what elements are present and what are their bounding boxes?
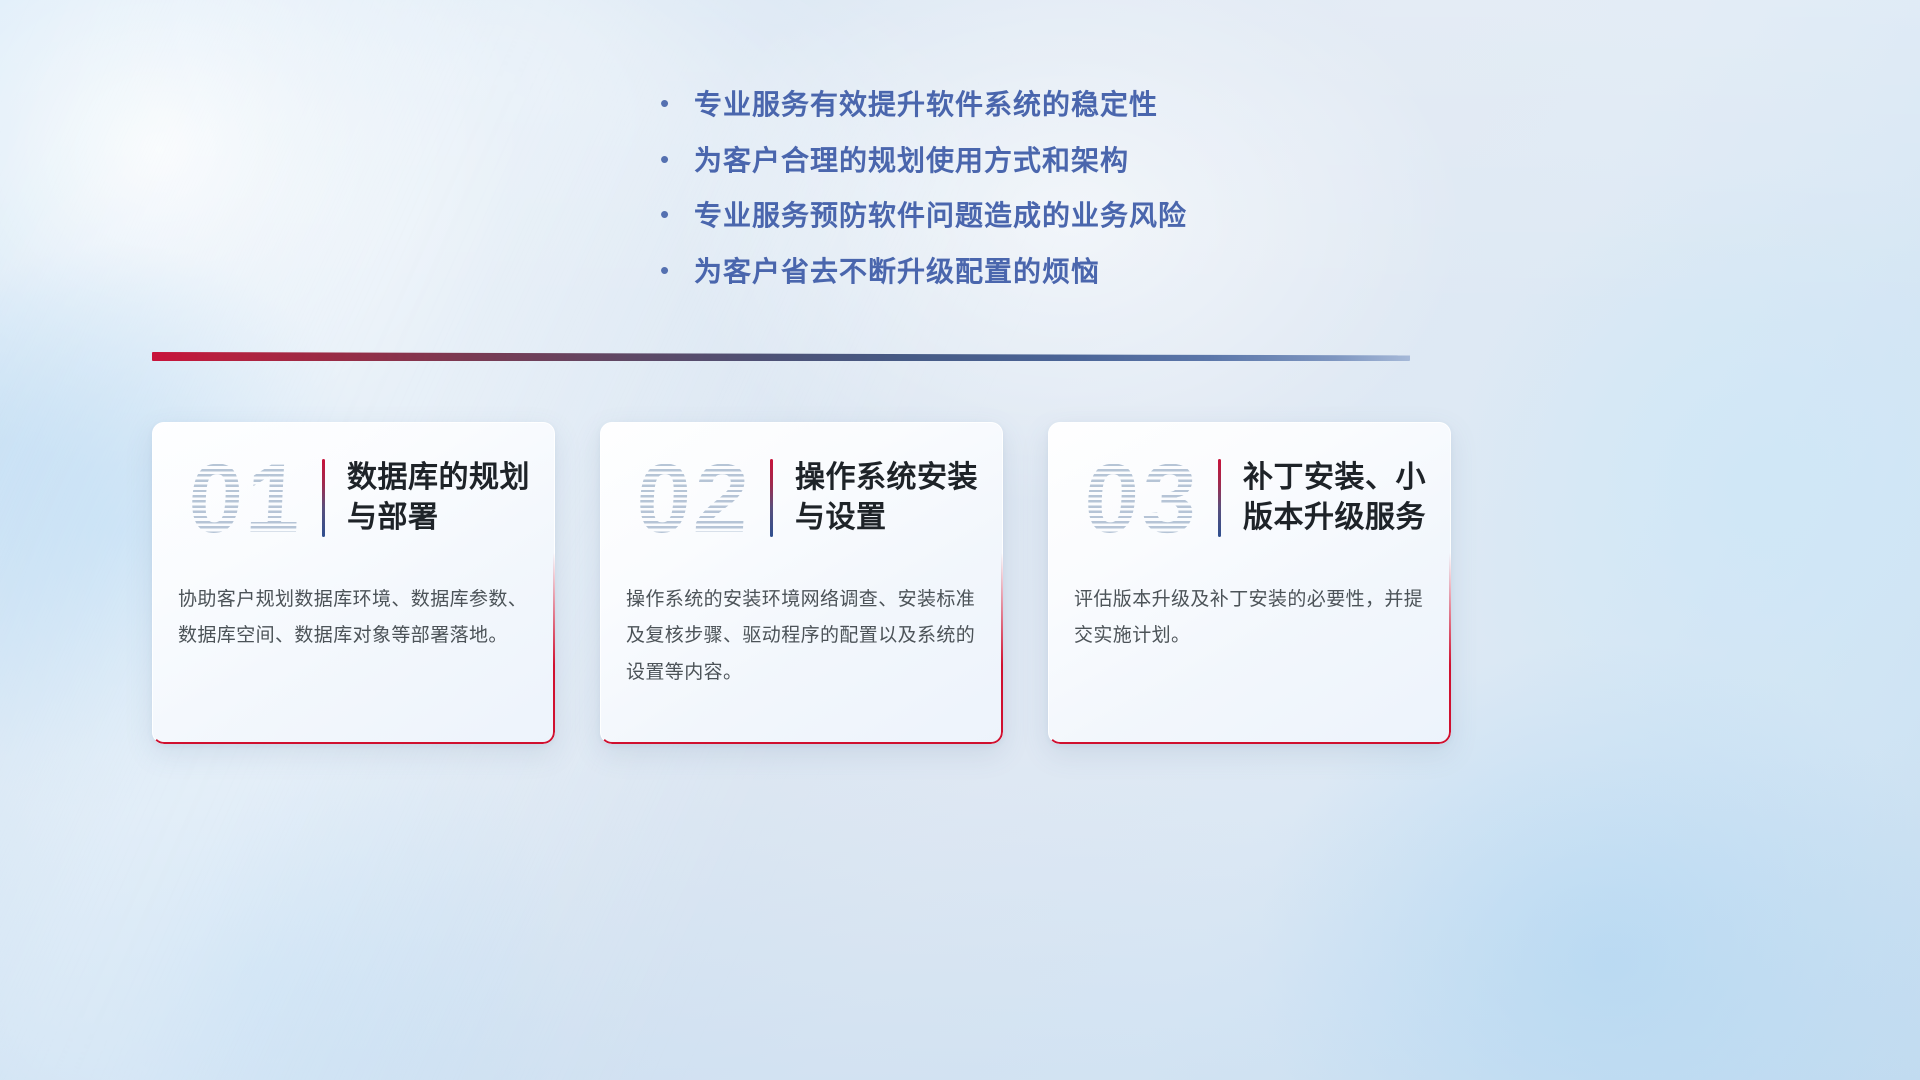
gradient-divider bbox=[152, 352, 1410, 361]
card-title: 数据库的规划与部署 bbox=[347, 458, 555, 537]
card-number-watermark: 03 bbox=[1066, 443, 1218, 553]
card-divider-rule bbox=[322, 459, 325, 537]
gradient-divider-fill bbox=[152, 352, 1410, 361]
card-description: 操作系统的安装环境网络调查、安装标准及复核步骤、驱动程序的配置以及系统的设置等内… bbox=[600, 582, 1003, 691]
card-number-text: 01 bbox=[167, 443, 325, 553]
card-divider-rule bbox=[770, 459, 773, 537]
bullet-item: • 专业服务预防软件问题造成的业务风险 bbox=[660, 199, 1260, 233]
bullet-item-label: 为客户省去不断升级配置的烦恼 bbox=[694, 255, 1100, 289]
bullet-dot-icon: • bbox=[660, 90, 694, 116]
bullet-dot-icon: • bbox=[660, 201, 694, 227]
service-card-list: 01 数据库的规划与部署 协助客户规划数据库环境、数据库参数、数据库空间、数据库… bbox=[152, 422, 1452, 744]
service-card[interactable]: 03 补丁安装、小版本升级服务 评估版本升级及补丁安装的必要性，并提交实施计划。 bbox=[1048, 422, 1451, 744]
bullet-item: • 为客户省去不断升级配置的烦恼 bbox=[660, 255, 1260, 289]
card-number-watermark: 01 bbox=[170, 443, 322, 553]
card-header: 02 操作系统安装与设置 bbox=[600, 422, 1003, 574]
card-description: 评估版本升级及补丁安装的必要性，并提交实施计划。 bbox=[1048, 582, 1451, 655]
bullet-item: • 专业服务有效提升软件系统的稳定性 bbox=[660, 88, 1260, 122]
card-title: 操作系统安装与设置 bbox=[795, 458, 1003, 537]
card-divider-rule bbox=[1218, 459, 1221, 537]
bullet-item-label: 为客户合理的规划使用方式和架构 bbox=[694, 144, 1129, 178]
card-header: 01 数据库的规划与部署 bbox=[152, 422, 555, 574]
bullet-dot-icon: • bbox=[660, 146, 694, 172]
card-header: 03 补丁安装、小版本升级服务 bbox=[1048, 422, 1451, 574]
service-card[interactable]: 01 数据库的规划与部署 协助客户规划数据库环境、数据库参数、数据库空间、数据库… bbox=[152, 422, 555, 744]
card-number-watermark: 02 bbox=[618, 443, 770, 553]
bullet-item-label: 专业服务预防软件问题造成的业务风险 bbox=[694, 199, 1187, 233]
benefits-bullet-list: • 专业服务有效提升软件系统的稳定性 • 为客户合理的规划使用方式和架构 • 专… bbox=[0, 88, 1920, 310]
card-number-text: 02 bbox=[615, 443, 773, 553]
card-description: 协助客户规划数据库环境、数据库参数、数据库空间、数据库对象等部署落地。 bbox=[152, 582, 555, 655]
bullet-item-label: 专业服务有效提升软件系统的稳定性 bbox=[694, 88, 1158, 122]
card-number-text: 03 bbox=[1063, 443, 1221, 553]
service-card[interactable]: 02 操作系统安装与设置 操作系统的安装环境网络调查、安装标准及复核步骤、驱动程… bbox=[600, 422, 1003, 744]
slide-content: • 专业服务有效提升软件系统的稳定性 • 为客户合理的规划使用方式和架构 • 专… bbox=[0, 0, 1920, 1080]
card-title: 补丁安装、小版本升级服务 bbox=[1243, 458, 1451, 537]
bullet-item: • 为客户合理的规划使用方式和架构 bbox=[660, 144, 1260, 178]
bullet-dot-icon: • bbox=[660, 257, 694, 283]
